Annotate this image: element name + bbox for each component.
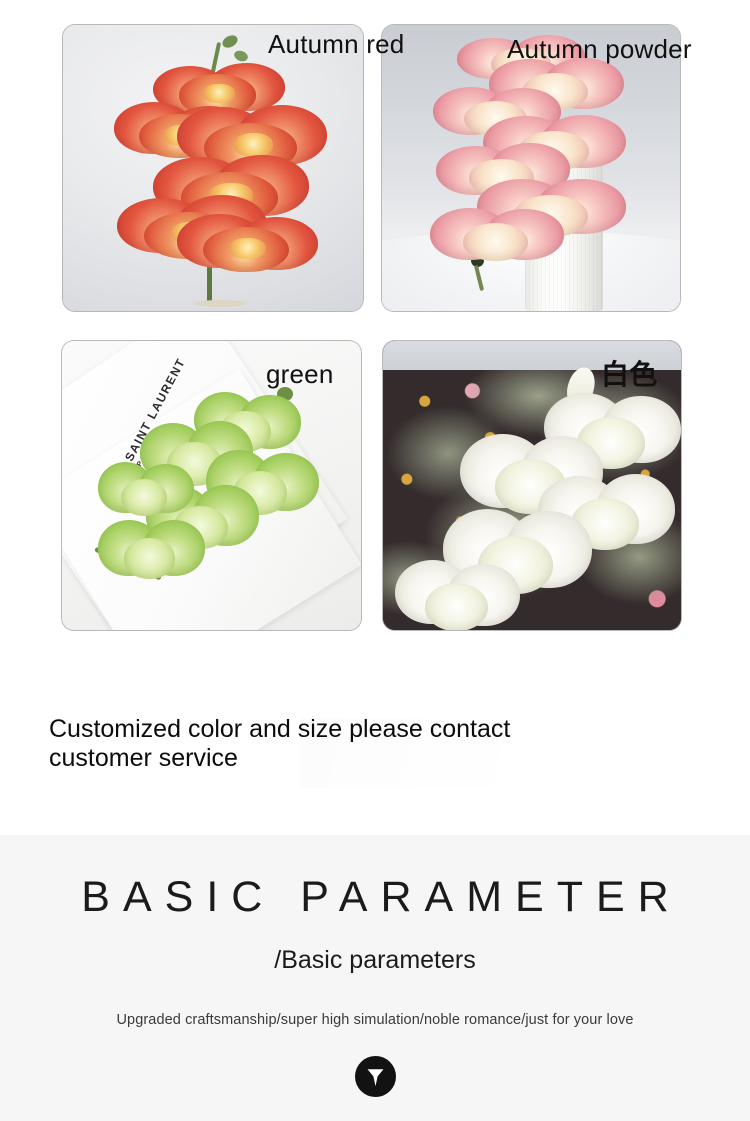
variant-card-autumn-red[interactable]	[63, 25, 363, 311]
variant-label-white: 白色	[601, 361, 657, 389]
customization-notice: Customized color and size please contact…	[49, 715, 609, 772]
flower-base	[195, 300, 246, 307]
variant-label-green: green	[266, 361, 334, 387]
brand-logo-icon	[355, 1056, 396, 1097]
variant-card-autumn-powder[interactable]	[382, 25, 680, 311]
variant-label-autumn-powder: Autumn powder	[507, 36, 692, 62]
orchid-bloom	[98, 457, 194, 526]
orchid-bloom	[395, 555, 520, 630]
product-detail-page: SAINT LAURENT PARIS	[0, 0, 750, 1121]
variant-photo-autumn-red	[63, 25, 363, 311]
section-tagline: Upgraded craftsmanship/super high simula…	[0, 1012, 750, 1028]
orchid-bloom	[177, 208, 321, 280]
section-title: BASIC PARAMETER	[0, 873, 750, 922]
customization-notice-line-2: customer service	[49, 744, 609, 773]
variant-label-autumn-red: Autumn red	[268, 31, 404, 57]
color-variant-gallery: SAINT LAURENT PARIS	[0, 0, 750, 835]
customization-notice-line-1: Customized color and size please contact	[49, 715, 609, 744]
variant-photo-autumn-powder	[382, 25, 680, 311]
orchid-bloom	[430, 202, 567, 271]
section-subtitle: /Basic parameters	[0, 946, 750, 975]
